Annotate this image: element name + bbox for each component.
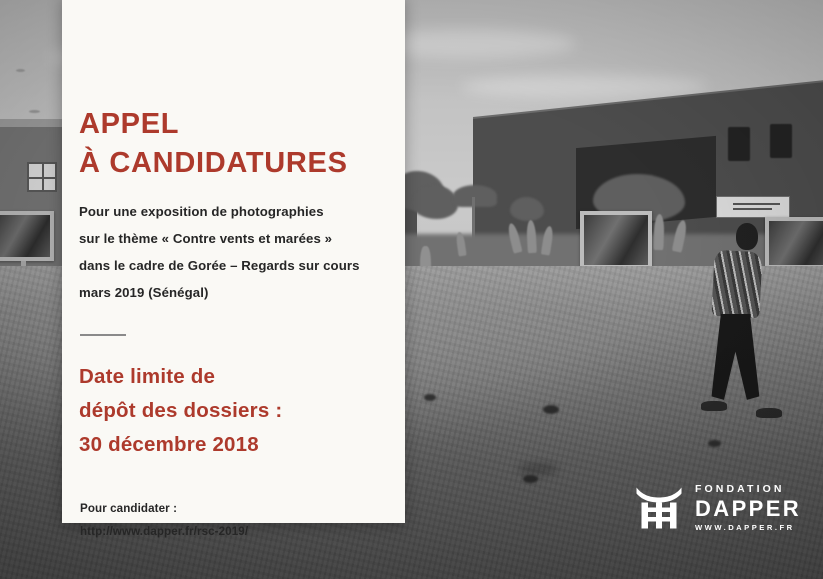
content-card: APPEL À CANDIDATURES Pour une exposition… (62, 0, 405, 523)
foreground-man-shoe (756, 408, 782, 418)
sand-object (708, 440, 721, 447)
divider (80, 334, 126, 336)
exhibition-panel (0, 211, 54, 261)
sand-object (523, 475, 538, 483)
tree (412, 185, 458, 219)
fondation-dapper-logo[interactable]: FONDATION DAPPER WWW.DAPPER.FR (636, 484, 801, 531)
description-text: Pour une exposition de photographies sur… (79, 199, 379, 306)
foreground-man-head (736, 223, 758, 250)
apply-block: Pour candidater : http://www.dapper.fr/r… (80, 498, 379, 543)
institute-sign (716, 196, 790, 218)
foreground-man-shoe (701, 401, 727, 411)
exhibition-panel (765, 217, 823, 269)
panel-photo (769, 221, 823, 265)
panel-photo (584, 215, 648, 265)
logo-url-text: WWW.DAPPER.FR (695, 524, 801, 532)
logo-fondation-text: FONDATION (695, 484, 801, 495)
apply-url-line: http://www.dapper.fr/rsc-2019/ (80, 521, 379, 543)
apply-label: Pour candidater : (80, 498, 379, 520)
page-title: APPEL À CANDIDATURES (79, 105, 379, 182)
poster: APPEL À CANDIDATURES Pour une exposition… (0, 0, 823, 579)
sign-text-line (733, 203, 781, 205)
logo-wordmark: FONDATION DAPPER WWW.DAPPER.FR (695, 484, 801, 531)
panel-photo (0, 215, 50, 257)
description-line-4: mars 2019 (Sénégal) (79, 280, 379, 307)
sign-text-line (733, 208, 772, 210)
dapper-torii-mask-icon (636, 487, 682, 529)
deadline-line-1: Date limite de (79, 360, 379, 394)
plant-frond (654, 214, 665, 250)
palm-crown (453, 185, 497, 207)
house-window (27, 162, 57, 192)
logo-dapper-text: DAPPER (695, 498, 801, 520)
deadline-line-2: dépôt des dossiers : (79, 394, 379, 428)
apply-url-link[interactable]: http://www.dapper.fr/rsc-2019/ (80, 525, 248, 538)
exhibition-panel (580, 211, 652, 269)
sand-object (424, 394, 436, 401)
description-line-1: Pour une exposition de photographies (79, 199, 379, 226)
description-line-3: dans le cadre de Gorée – Regards sur cou… (79, 253, 379, 280)
description-line-2: sur le thème « Contre vents et marées » (79, 226, 379, 253)
foreground-man-shirt (711, 250, 762, 318)
headline-line-1: APPEL (79, 108, 179, 140)
bird (29, 110, 40, 113)
headline-line-2: À CANDIDATURES (79, 144, 379, 183)
banner-dark (728, 127, 750, 161)
banner-dark (770, 124, 792, 158)
deadline-date: 30 décembre 2018 (79, 428, 379, 462)
deadline-text: Date limite de dépôt des dossiers : 30 d… (79, 360, 379, 462)
